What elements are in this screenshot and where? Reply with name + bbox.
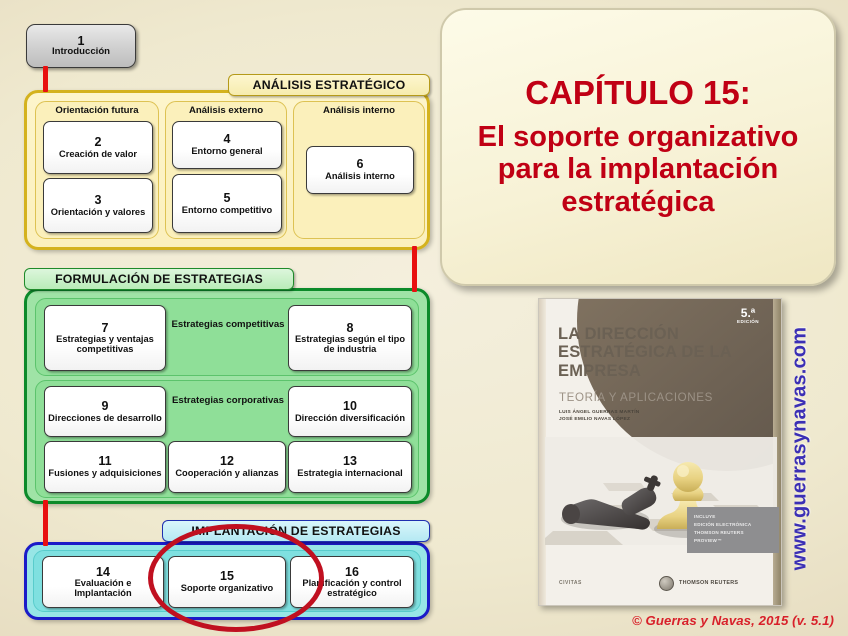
chapter-number: 3 <box>95 194 102 207</box>
chapter-label: Orientación y valores <box>51 208 146 217</box>
book-title: LA DIRECCIÓN ESTRATÉGICA DE LA EMPRESA <box>558 325 734 380</box>
copyright-notice: © Guerras y Navas, 2015 (v. 5.1) <box>632 613 834 628</box>
chapter-label: Planificación y control estratégico <box>293 579 411 598</box>
group-title: Análisis externo <box>166 105 286 116</box>
chapter-number: 10 <box>343 400 357 413</box>
chapter-number: 5 <box>224 192 231 205</box>
group-analisis-externo: Análisis externo 4 Entorno general 5 Ent… <box>165 101 287 239</box>
group-title: Análisis interno <box>294 105 424 116</box>
book-subtitle: TEORÍA Y APLICACIONES <box>559 391 749 404</box>
chapter-number: 2 <box>95 136 102 149</box>
chapter-label: Soporte organizativo <box>181 584 273 593</box>
section-panel-implantacion-de-estrategias: 14 Evaluación e Implantación 15 Soporte … <box>24 542 430 620</box>
chapter-number: 7 <box>102 322 109 335</box>
chapter-label: Entorno general <box>191 147 262 156</box>
book-edition-word: EDICIÓN <box>737 319 759 324</box>
chapter-box-13[interactable]: 13 Estrategia internacional <box>288 441 412 493</box>
chapter-label: Entorno competitivo <box>182 206 272 215</box>
chapter-box-9[interactable]: 9 Direcciones de desarrollo <box>44 386 166 437</box>
chapter-label: Dirección diversificación <box>295 414 405 423</box>
section-panel-formulacion-de-estrategias: Estrategias competitivas 7 Estrategias y… <box>24 288 430 504</box>
chapter-label: Estrategia internacional <box>297 469 402 478</box>
book-structure-diagram: 1 Introducción ANÁLISIS ESTRATÉGICO Orie… <box>0 0 440 636</box>
chapter-number: 4 <box>224 133 231 146</box>
group-orientacion-futura: Orientación futura 2 Creación de valor 3… <box>35 101 159 239</box>
connector-formulacion-to-implantacion <box>43 500 48 546</box>
group-analisis-interno: Análisis interno 6 Análisis interno <box>293 101 425 239</box>
book-edition-number: 5.ª <box>737 307 759 319</box>
group-estrategias-corporativas: Estrategias corporativas 9 Direcciones d… <box>35 380 419 498</box>
chapter-box-6[interactable]: 6 Análisis interno <box>306 146 414 194</box>
book-cover-image: 5.ª EDICIÓN LA DIRECCIÓN ESTRATÉGICA DE … <box>538 298 782 606</box>
group-title: Orientación futura <box>36 105 158 116</box>
chapter-box-7[interactable]: 7 Estrategias y ventajas competitivas <box>44 305 166 371</box>
globe-icon <box>659 576 674 591</box>
book-publisher-row: CIVITAS THOMSON REUTERS <box>539 571 781 595</box>
chapter-label: Cooperación y alianzas <box>175 469 278 478</box>
chapter-label: Creación de valor <box>59 150 137 159</box>
section-tag-formulacion-de-estrategias: FORMULACIÓN DE ESTRATEGIAS <box>24 268 294 290</box>
chapter-number: 11 <box>98 455 111 468</box>
book-publisher-civitas: CIVITAS <box>559 580 582 586</box>
chapter-label: Introducción <box>52 47 110 57</box>
website-url-vertical[interactable]: www.guerrasynavas.com <box>787 292 813 604</box>
chapter-label: Estrategias y ventajas competitivas <box>47 335 163 354</box>
chapter-label: Evaluación e Implantación <box>45 579 161 598</box>
chapter-box-1[interactable]: 1 Introducción <box>26 24 136 68</box>
chapter-box-14[interactable]: 14 Evaluación e Implantación <box>42 556 164 608</box>
chapter-number: 8 <box>347 322 354 335</box>
group-implantacion: 14 Evaluación e Implantación 15 Soporte … <box>33 550 421 612</box>
website-url-text: www.guerrasynavas.com <box>789 326 812 570</box>
group-title: Estrategias competitivas <box>171 319 285 330</box>
group-title: Estrategias corporativas <box>171 395 285 406</box>
section-tag-implantacion-de-estrategias: IMPLANTACIÓN DE ESTRATEGIAS <box>162 520 430 542</box>
section-tag-analisis-estrategico: ANÁLISIS ESTRATÉGICO <box>228 74 430 96</box>
chapter-label: Estrategias según el tipo de industria <box>291 335 409 354</box>
chapter-box-10[interactable]: 10 Dirección diversificación <box>288 386 412 437</box>
chapter-box-4[interactable]: 4 Entorno general <box>172 121 282 169</box>
chapter-box-8[interactable]: 8 Estrategias según el tipo de industria <box>288 305 412 371</box>
chapter-number: 13 <box>343 455 357 468</box>
chapter-label: Análisis interno <box>325 172 395 181</box>
chapter-box-15[interactable]: 15 Soporte organizativo <box>168 556 286 608</box>
chapter-box-16[interactable]: 16 Planificación y control estratégico <box>290 556 414 608</box>
chapter-label: Fusiones y adquisiciones <box>48 469 161 478</box>
book-publisher-thomson-label: THOMSON REUTERS <box>679 580 738 586</box>
section-panel-analisis-estrategico: Orientación futura 2 Creación de valor 3… <box>24 90 430 250</box>
chapter-box-11[interactable]: 11 Fusiones y adquisiciones <box>44 441 166 493</box>
chapter-number: 12 <box>220 455 234 468</box>
chapter-title-line-2: El soporte organizativo para la implanta… <box>456 121 820 218</box>
connector-analisis-to-formulacion <box>412 246 417 292</box>
chapter-number: 14 <box>96 566 110 579</box>
slide-canvas: 1 Introducción ANÁLISIS ESTRATÉGICO Orie… <box>0 0 848 636</box>
chapter-label: Direcciones de desarrollo <box>48 414 162 423</box>
chapter-title-line-1: CAPÍTULO 15: <box>525 76 751 111</box>
book-publisher-thomson: THOMSON REUTERS <box>659 576 738 591</box>
chapter-number: 6 <box>357 158 364 171</box>
chapter-box-5[interactable]: 5 Entorno competitivo <box>172 174 282 233</box>
book-proview-badge: INCLUYE EDICIÓN ELECTRÓNICA THOMSON REUT… <box>687 507 779 553</box>
chapter-number: 9 <box>102 400 109 413</box>
chapter-box-2[interactable]: 2 Creación de valor <box>43 121 153 174</box>
book-edition-badge: 5.ª EDICIÓN <box>737 307 759 324</box>
chapter-box-3[interactable]: 3 Orientación y valores <box>43 178 153 233</box>
group-estrategias-competitivas: Estrategias competitivas 7 Estrategias y… <box>35 298 419 376</box>
chapter-number: 16 <box>345 566 359 579</box>
chapter-title-panel: CAPÍTULO 15: El soporte organizativo par… <box>440 8 836 286</box>
connector-intro-to-analisis <box>43 66 48 92</box>
chapter-box-12[interactable]: 12 Cooperación y alianzas <box>168 441 286 493</box>
chapter-number: 15 <box>220 570 234 583</box>
